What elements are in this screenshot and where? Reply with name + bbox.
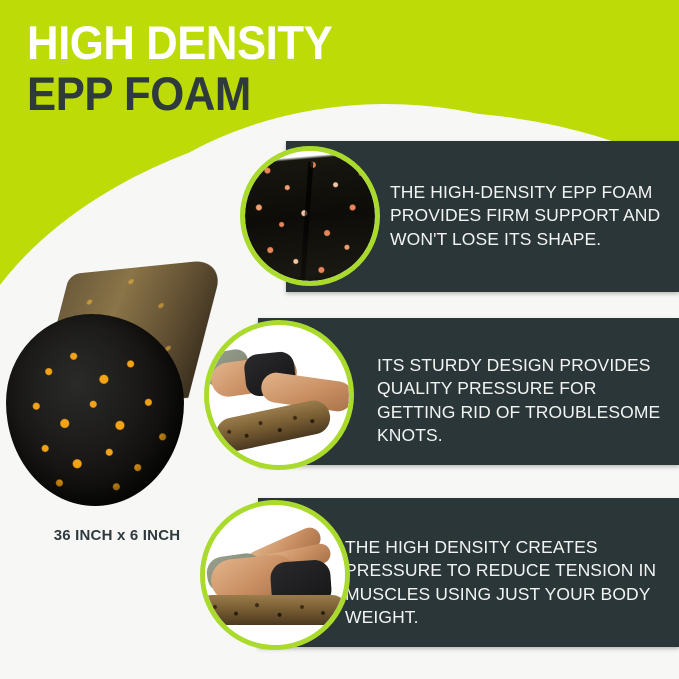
page-title-line-2: EPP FOAM	[27, 71, 332, 116]
foam-texture-closeup-icon	[245, 151, 375, 281]
scene-rolling-shins	[209, 325, 349, 465]
feature-text-firm-support: THE HIGH-DENSITY EPP FOAM PROVIDES FIRM …	[390, 181, 668, 251]
feature-image-body-weight	[200, 500, 350, 650]
feature-image-firm-support	[240, 146, 380, 286]
feature-image-sturdy-design	[204, 320, 354, 470]
person-rolling-back-icon	[205, 505, 345, 645]
product-infographic: HIGH DENSITY EPP FOAM 36 INCH x 6 INCH T…	[0, 0, 679, 679]
page-title-line-1: HIGH DENSITY	[27, 20, 332, 65]
foam-texture-graphic	[245, 151, 375, 281]
scene-rolling-back	[205, 505, 345, 645]
person-rolling-shins-icon	[209, 325, 349, 465]
scene2-roller	[213, 397, 334, 454]
foam-roller-product-image	[2, 272, 214, 508]
foam-roller-end-cap	[6, 314, 184, 506]
page-title: HIGH DENSITY EPP FOAM	[27, 20, 355, 116]
product-dimensions-caption: 36 INCH x 6 INCH	[22, 527, 212, 544]
feature-text-body-weight: THE HIGH DENSITY CREATES PRESSURE TO RED…	[345, 536, 673, 629]
scene3-roller	[205, 595, 345, 625]
feature-text-sturdy-design: ITS STURDY DESIGN PROVIDES QUALITY PRESS…	[377, 354, 669, 447]
